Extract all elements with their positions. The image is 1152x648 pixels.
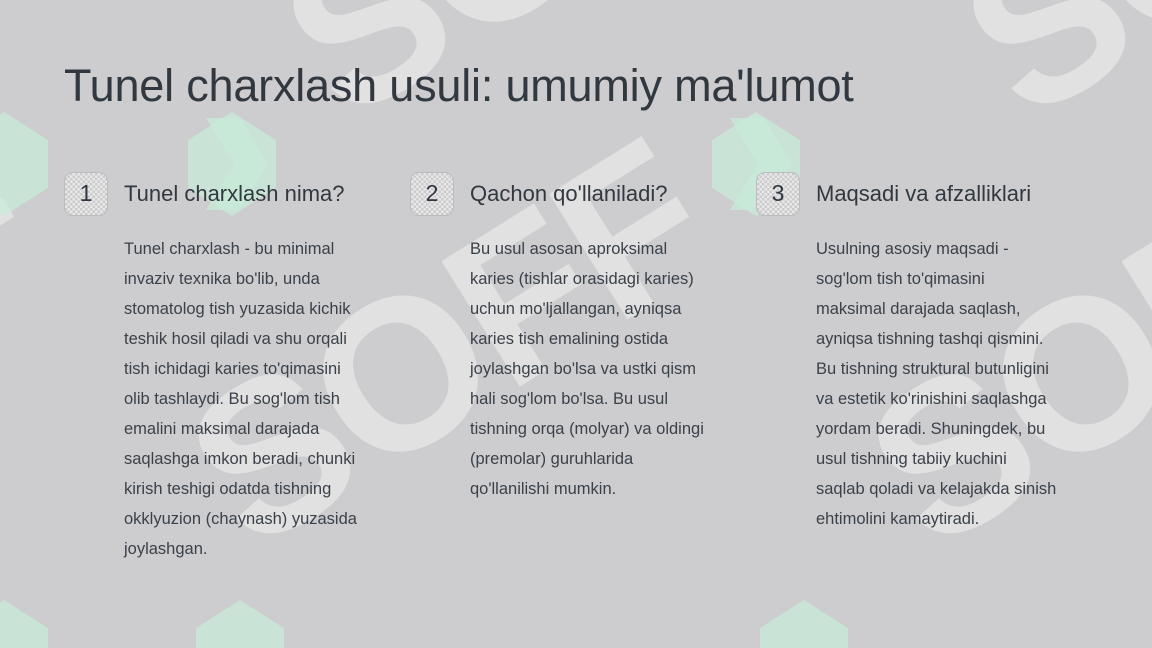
column-2-number-badge: 2	[410, 172, 454, 216]
column-2-header: 2 Qachon qo'llaniladi?	[410, 172, 712, 216]
columns-container: 1 Tunel charxlash nima? Tunel charxlash …	[64, 172, 1088, 564]
column-2-title: Qachon qo'llaniladi?	[470, 181, 667, 207]
column-3: 3 Maqsadi va afzalliklari Usulning asosi…	[756, 172, 1058, 534]
column-3-header: 3 Maqsadi va afzalliklari	[756, 172, 1058, 216]
column-1-title: Tunel charxlash nima?	[124, 181, 345, 207]
column-1-body: Tunel charxlash - bu minimal invaziv tex…	[64, 234, 366, 564]
column-3-number-badge: 3	[756, 172, 800, 216]
column-3-body: Usulning asosiy maqsadi - sog'lom tish t…	[756, 234, 1058, 534]
column-1-number-badge: 1	[64, 172, 108, 216]
column-1-header: 1 Tunel charxlash nima?	[64, 172, 366, 216]
column-1: 1 Tunel charxlash nima? Tunel charxlash …	[64, 172, 366, 564]
page-title: Tunel charxlash usuli: umumiy ma'lumot	[64, 60, 1088, 112]
slide-root: Tunel charxlash usuli: umumiy ma'lumot 1…	[0, 0, 1152, 648]
column-3-title: Maqsadi va afzalliklari	[816, 181, 1031, 207]
column-2: 2 Qachon qo'llaniladi? Bu usul asosan ap…	[410, 172, 712, 504]
column-2-body: Bu usul asosan aproksimal karies (tishla…	[410, 234, 712, 504]
